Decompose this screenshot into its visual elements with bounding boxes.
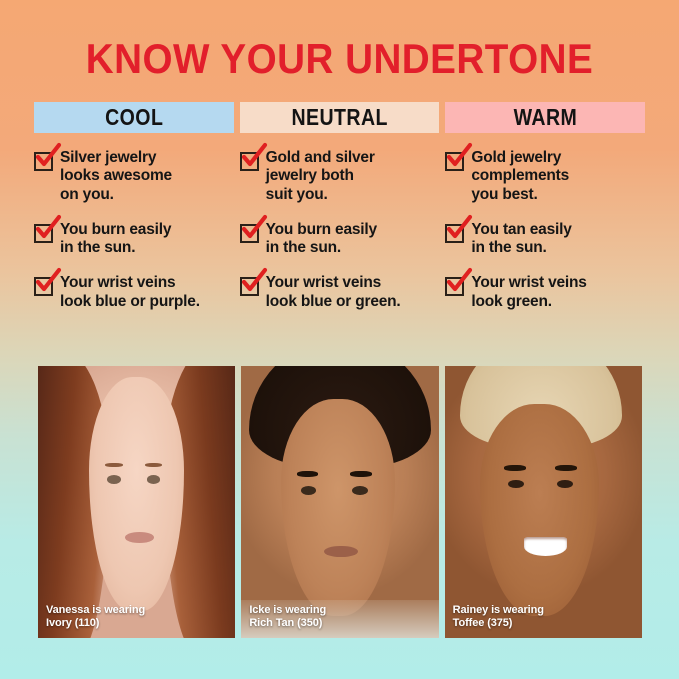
list-item: You tan easily in the sun. — [445, 221, 645, 258]
list-item: Silver jewelry looks awesome on you. — [34, 149, 234, 204]
checkbox-checked-icon — [34, 277, 53, 296]
column-header-neutral: NEUTRAL — [240, 102, 440, 133]
column-header-cool-label: COOL — [105, 104, 163, 131]
eye-right — [147, 475, 161, 484]
face — [281, 399, 395, 617]
checkbox-checked-icon — [34, 224, 53, 243]
eyebrow-left — [297, 471, 319, 477]
checkbox-checked-icon — [445, 152, 464, 171]
list-item-label: You tan easily in the sun. — [471, 221, 571, 258]
checkbox-checked-icon — [240, 277, 259, 296]
list-item-label: Silver jewelry looks awesome on you. — [60, 149, 172, 204]
list-item: Gold jewelry complements you best. — [445, 149, 645, 204]
list-item: Your wrist veins look green. — [445, 274, 645, 311]
column-header-warm-label: WARM — [513, 104, 577, 131]
face — [89, 377, 184, 611]
list-item-label: You burn easily in the sun. — [60, 221, 171, 258]
photo-caption: Icke is wearing Rich Tan (350) — [249, 604, 326, 630]
model-photo-icke: Icke is wearing Rich Tan (350) — [241, 366, 438, 638]
column-neutral: NEUTRAL Gold and silver jewelry both sui… — [240, 102, 440, 328]
list-item-label: You burn easily in the sun. — [266, 221, 377, 258]
column-header-cool: COOL — [34, 102, 234, 133]
column-warm: WARM Gold jewelry complements you best. … — [445, 102, 645, 328]
lips — [324, 546, 358, 557]
checklist-warm: Gold jewelry complements you best. You t… — [445, 133, 645, 311]
page-title: KNOW YOUR UNDERTONE — [27, 0, 652, 80]
model-photos: Vanessa is wearing Ivory (110) Icke is w… — [38, 366, 642, 638]
photo-caption: Vanessa is wearing Ivory (110) — [46, 604, 145, 630]
eye-right — [352, 486, 368, 495]
eyebrow-right — [555, 465, 577, 471]
undertone-columns: COOL Silver jewelry looks awesome on you… — [0, 80, 679, 328]
column-cool: COOL Silver jewelry looks awesome on you… — [34, 102, 234, 328]
checkbox-checked-icon — [445, 277, 464, 296]
checkbox-checked-icon — [34, 152, 53, 171]
checkbox-checked-icon — [240, 152, 259, 171]
list-item-label: Gold jewelry complements you best. — [471, 149, 569, 204]
list-item-label: Your wrist veins look blue or green. — [266, 274, 401, 311]
list-item-label: Your wrist veins look green. — [471, 274, 586, 311]
eyebrow-right — [145, 463, 163, 467]
eyebrow-right — [350, 471, 372, 477]
eyebrow-left — [105, 463, 123, 467]
eyebrow-left — [504, 465, 526, 471]
model-photo-rainey: Rainey is wearing Toffee (375) — [445, 366, 642, 638]
list-item-label: Gold and silver jewelry both suit you. — [266, 149, 375, 204]
face — [480, 404, 598, 616]
list-item: You burn easily in the sun. — [240, 221, 440, 258]
eye-left — [301, 486, 317, 495]
checkbox-checked-icon — [445, 224, 464, 243]
list-item: Gold and silver jewelry both suit you. — [240, 149, 440, 204]
list-item-label: Your wrist veins look blue or purple. — [60, 274, 200, 311]
eye-left — [107, 475, 121, 484]
list-item: Your wrist veins look blue or purple. — [34, 274, 234, 311]
photo-caption: Rainey is wearing Toffee (375) — [453, 604, 544, 630]
column-header-warm: WARM — [445, 102, 645, 133]
lips — [125, 532, 155, 543]
list-item: Your wrist veins look blue or green. — [240, 274, 440, 311]
checkbox-checked-icon — [240, 224, 259, 243]
list-item: You burn easily in the sun. — [34, 221, 234, 258]
checklist-cool: Silver jewelry looks awesome on you. You… — [34, 133, 234, 311]
model-photo-vanessa: Vanessa is wearing Ivory (110) — [38, 366, 235, 638]
checklist-neutral: Gold and silver jewelry both suit you. Y… — [240, 133, 440, 311]
column-header-neutral-label: NEUTRAL — [291, 104, 387, 131]
